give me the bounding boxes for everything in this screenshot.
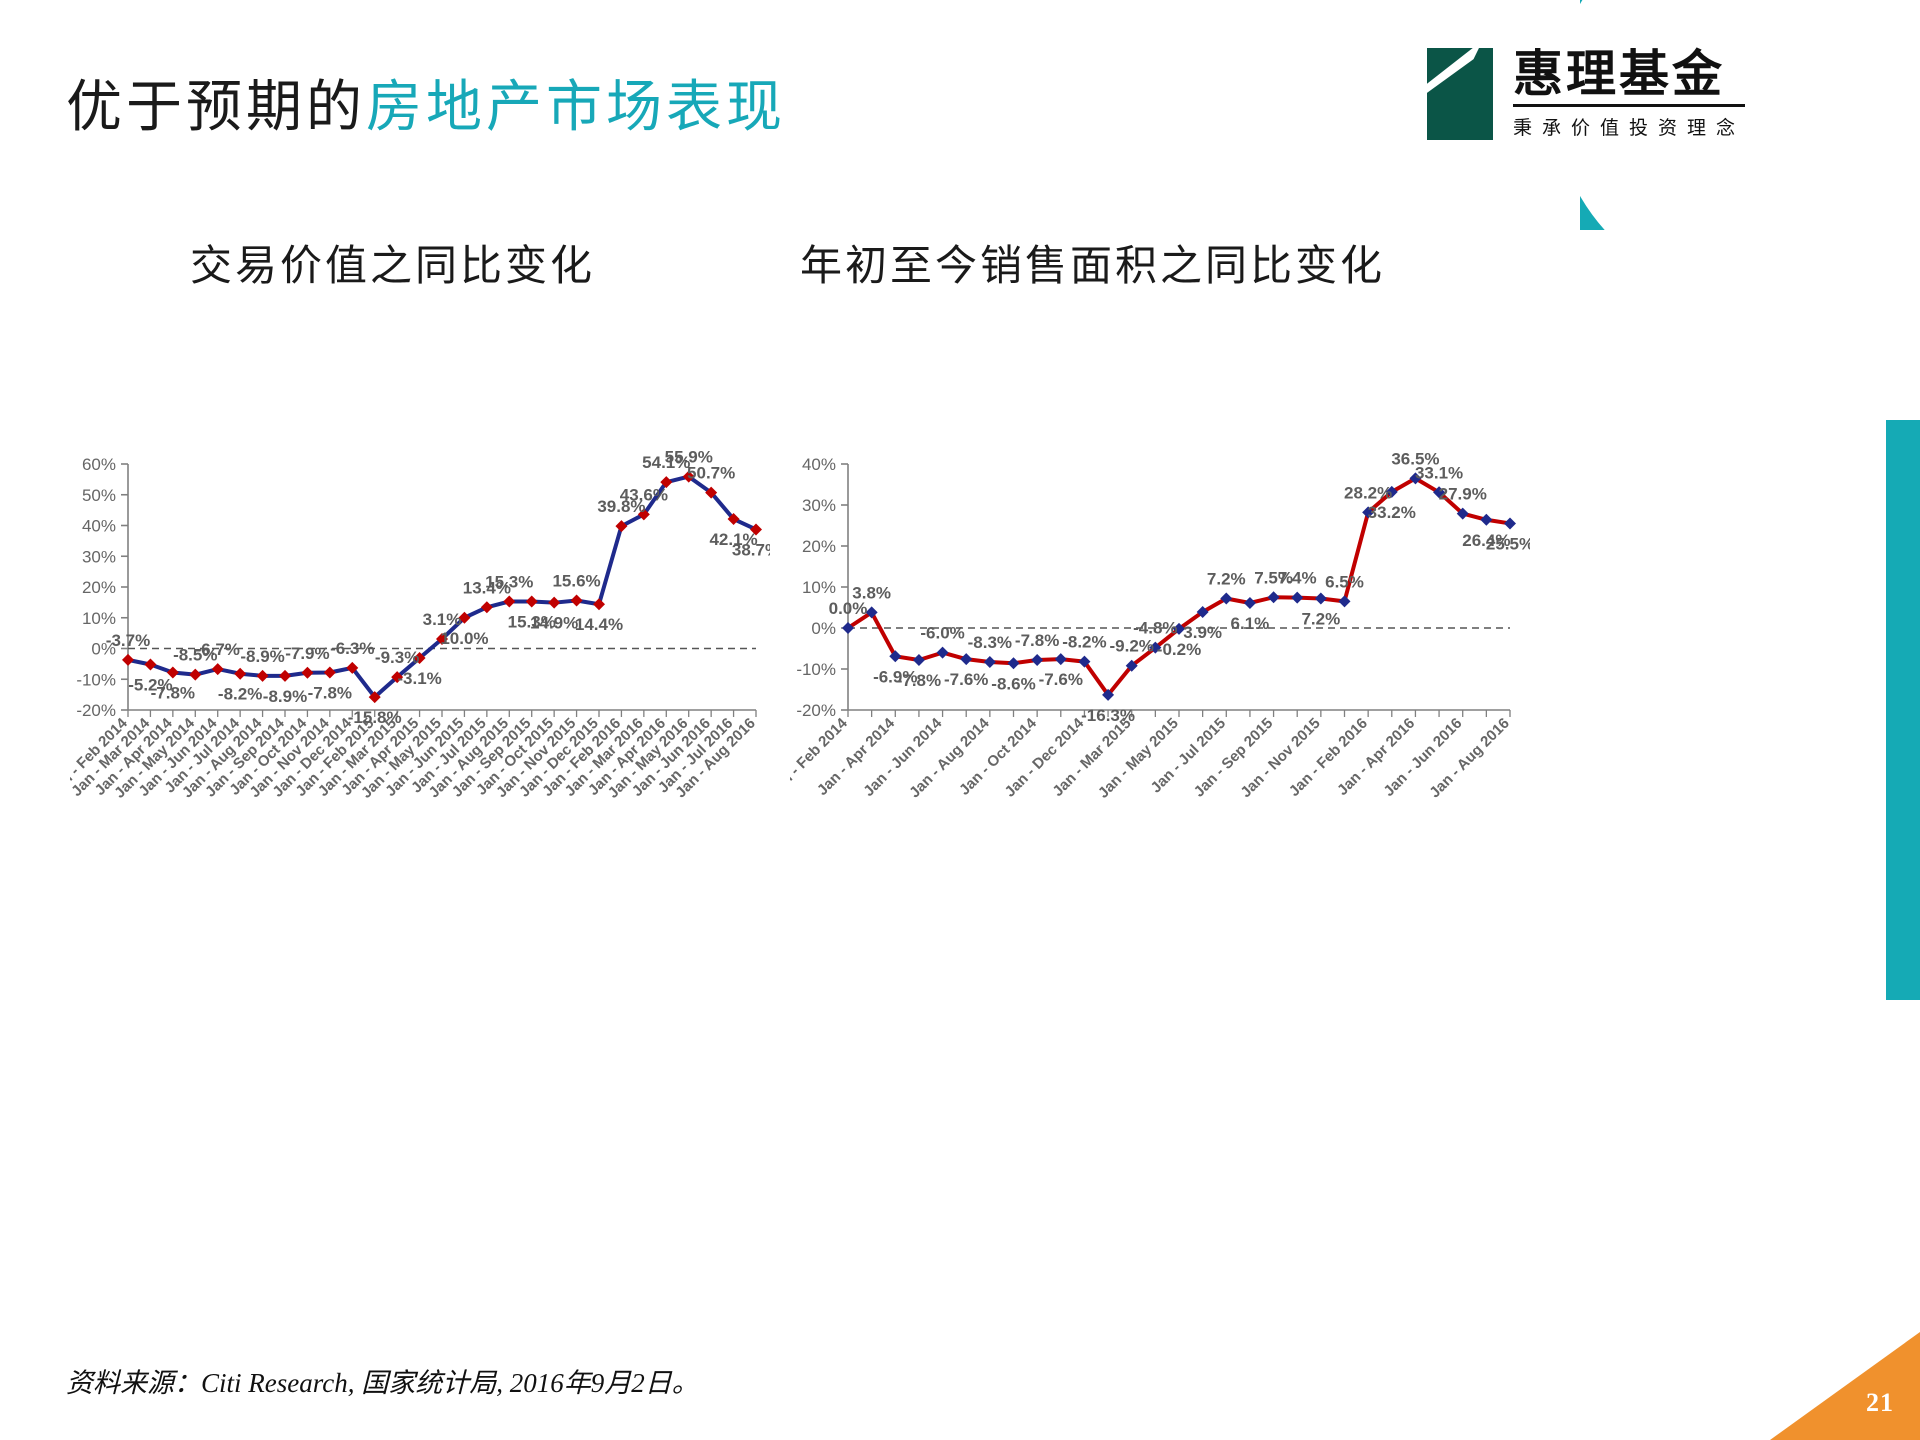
data-point-marker <box>1008 657 1020 669</box>
data-point-label: -6.3% <box>330 639 374 658</box>
y-axis-tick-label: -10% <box>796 660 836 679</box>
data-point-marker <box>189 669 201 681</box>
data-point-label: 43.6% <box>620 485 668 504</box>
data-point-label: 3.8% <box>852 583 891 602</box>
data-point-marker <box>1268 591 1280 603</box>
y-axis-tick-label: 30% <box>82 547 116 566</box>
y-axis-tick-label: 10% <box>802 578 836 597</box>
data-point-label: -7.8% <box>151 683 195 702</box>
data-point-marker <box>144 658 156 670</box>
data-point-label: -7.9% <box>285 644 329 663</box>
data-point-marker <box>212 663 224 675</box>
data-point-label: 50.7% <box>687 464 735 483</box>
data-point-label: -7.8% <box>308 683 352 702</box>
data-point-label: -8.6% <box>991 674 1035 693</box>
data-point-marker <box>960 653 972 665</box>
data-point-marker <box>984 656 996 668</box>
data-point-label: -8.3% <box>968 633 1012 652</box>
y-axis-tick-label: 40% <box>82 517 116 536</box>
orange-corner-decoration <box>1770 1332 1920 1440</box>
data-point-marker <box>937 647 949 659</box>
data-point-marker <box>593 598 605 610</box>
data-point-label: -6.0% <box>920 624 964 643</box>
page-number: 21 <box>1866 1388 1894 1418</box>
data-point-label: 6.1% <box>1231 614 1270 633</box>
data-point-label: -16.3% <box>1081 706 1135 725</box>
data-point-marker <box>913 654 925 666</box>
x-axis-tick-label: Jan - May 2015 <box>1095 715 1182 802</box>
data-point-label: -15.8% <box>348 708 402 727</box>
page-title-highlight: 房地产市场表现 <box>366 75 786 140</box>
y-axis-tick-label: -20% <box>76 701 116 720</box>
logo-tagline: 秉承价值投资理念 <box>1513 113 1745 140</box>
data-point-label: -4.8% <box>1133 619 1177 638</box>
y-axis-tick-label: 10% <box>82 609 116 628</box>
data-point-label: -3.1% <box>397 669 441 688</box>
data-point-label: 6.5% <box>1325 572 1364 591</box>
data-point-label: 15.6% <box>552 572 600 591</box>
data-point-marker <box>301 667 313 679</box>
data-point-marker <box>279 670 291 682</box>
series-line <box>128 477 756 697</box>
chart-transaction-value-yoy: -20%-10%0%10%20%30%40%50%60%Jan - Feb 20… <box>70 440 770 860</box>
data-point-label: 7.2% <box>1301 609 1340 628</box>
data-point-label: 15.3% <box>485 572 533 591</box>
data-point-label: 33.2% <box>1368 503 1416 522</box>
logo-mark-icon <box>1427 48 1493 140</box>
y-axis-tick-label: 20% <box>802 537 836 556</box>
y-axis-tick-label: 40% <box>802 455 836 474</box>
teal-side-bar <box>1886 420 1920 1000</box>
data-point-label: -9.3% <box>375 648 419 667</box>
page-title-prefix: 优于预期的 <box>66 75 366 140</box>
data-point-label: 7.4% <box>1278 569 1317 588</box>
data-point-label: 3.9% <box>1183 623 1222 642</box>
chart-ytd-sales-area-yoy: -20%-10%0%10%20%30%40%Jan - Feb 2014Jan … <box>790 440 1530 860</box>
data-point-label: 7.2% <box>1207 569 1246 588</box>
data-point-label: -8.9% <box>263 687 307 706</box>
data-point-label: -7.6% <box>1039 670 1083 689</box>
data-point-label: -7.8% <box>897 671 941 690</box>
y-axis-tick-label: 50% <box>82 486 116 505</box>
y-axis-tick-label: -10% <box>76 670 116 689</box>
chart-heading-left: 交易价值之同比变化 <box>190 232 595 293</box>
data-point-label: 25.5% <box>1486 534 1530 553</box>
data-point-marker <box>1055 653 1067 665</box>
data-point-label: -0.2% <box>1157 640 1201 659</box>
brand-logo: 惠理基金 秉承价值投资理念 <box>1427 48 1745 140</box>
page-title: 优于预期的房地产市场表现 <box>66 62 786 143</box>
data-point-label: -9.2% <box>1110 637 1154 656</box>
data-point-label: 33.1% <box>1415 463 1463 482</box>
data-point-label: -7.6% <box>944 670 988 689</box>
y-axis-tick-label: -20% <box>796 701 836 720</box>
data-point-marker <box>1291 592 1303 604</box>
data-point-marker <box>324 666 336 678</box>
chart-heading-right: 年初至今销售面积之同比变化 <box>800 232 1385 293</box>
logo-text: 惠理基金 秉承价值投资理念 <box>1513 48 1745 140</box>
data-point-marker <box>571 595 583 607</box>
data-point-label: -7.8% <box>1015 631 1059 650</box>
y-axis-tick-label: 60% <box>82 455 116 474</box>
data-point-marker <box>257 670 269 682</box>
data-point-marker <box>1480 514 1492 526</box>
source-note: 资料来源：Citi Research, 国家统计局, 2016年9月2日。 <box>66 1361 699 1400</box>
x-axis-tick-label: Jan - Aug 2014 <box>906 714 993 801</box>
data-point-marker <box>1504 517 1516 529</box>
data-point-label: -3.7% <box>106 631 150 650</box>
y-axis-tick-label: 20% <box>82 578 116 597</box>
data-point-label: 38.7% <box>732 540 770 559</box>
data-point-label: 10.0% <box>440 629 488 648</box>
logo-company-name: 惠理基金 <box>1513 48 1745 107</box>
chart-right-svg: -20%-10%0%10%20%30%40%Jan - Feb 2014Jan … <box>790 440 1530 860</box>
data-point-marker <box>122 654 134 666</box>
data-point-label: -6.7% <box>196 640 240 659</box>
data-point-label: -8.2% <box>218 685 262 704</box>
y-axis-tick-label: 0% <box>811 619 836 638</box>
data-point-marker <box>481 601 493 613</box>
data-point-marker <box>1244 597 1256 609</box>
y-axis-tick-label: 30% <box>802 496 836 515</box>
data-point-label: -8.2% <box>1062 633 1106 652</box>
data-point-label: 14.9% <box>530 614 578 633</box>
data-point-marker <box>234 668 246 680</box>
data-point-label: 14.4% <box>575 615 623 634</box>
data-point-label: 27.9% <box>1439 485 1487 504</box>
data-point-marker <box>1315 592 1327 604</box>
data-point-label: -8.9% <box>240 647 284 666</box>
data-point-marker <box>1339 595 1351 607</box>
data-point-marker <box>526 595 538 607</box>
data-point-marker <box>548 597 560 609</box>
data-point-label: 3.1% <box>423 610 462 629</box>
data-point-label: 28.2% <box>1344 483 1392 502</box>
chart-left-svg: -20%-10%0%10%20%30%40%50%60%Jan - Feb 20… <box>70 440 770 860</box>
data-point-marker <box>1031 654 1043 666</box>
